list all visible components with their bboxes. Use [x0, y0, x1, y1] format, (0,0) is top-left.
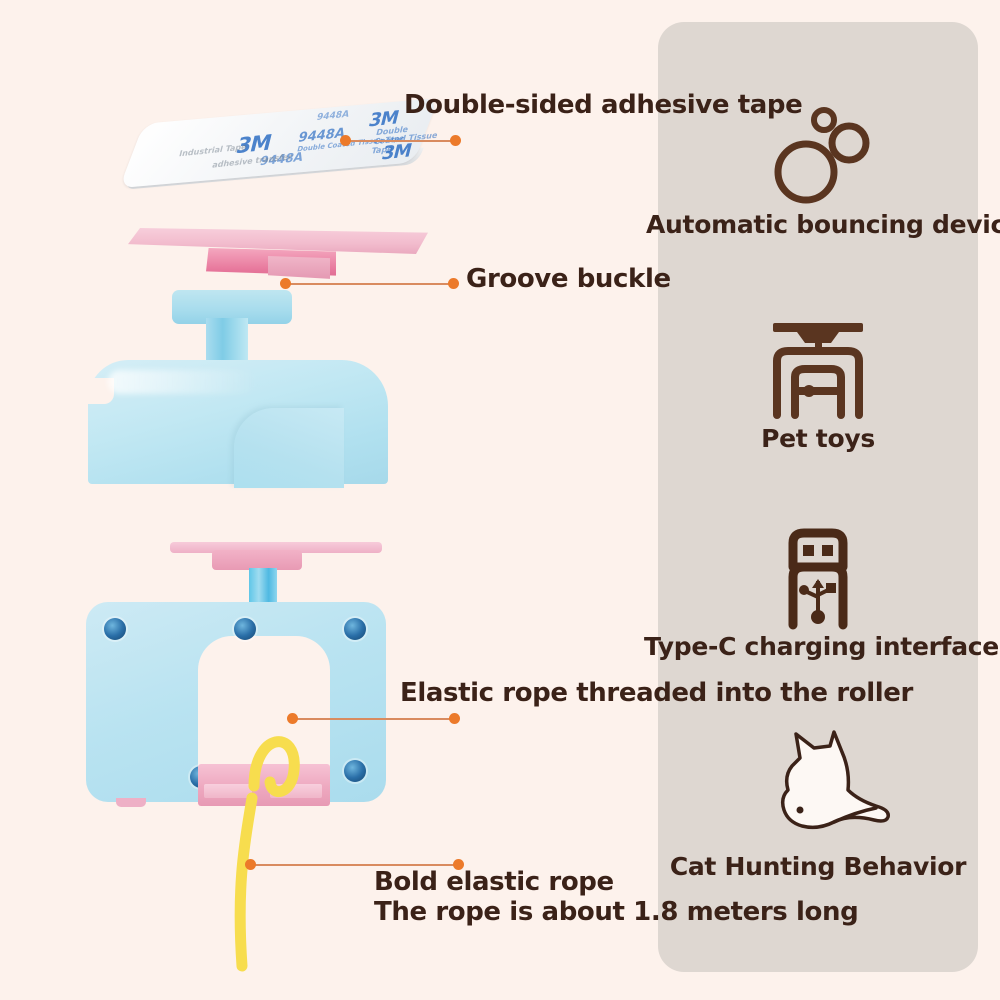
infographic-canvas: Automatic bouncing device Pet toys	[0, 0, 1000, 1000]
leader-dot-groove-buckle-end	[448, 278, 459, 289]
feature-type-c-charging: Type-C charging interface	[658, 522, 978, 661]
leader-dot-adhesive-tape-start	[340, 135, 351, 146]
pet-toy-device-icon	[658, 314, 978, 424]
feature-automatic-bouncing-device: Automatic bouncing device	[658, 100, 978, 239]
leader-dot-bold-elastic-rope-start	[245, 859, 256, 870]
feature-cat-hunting-behavior: Cat Hunting Behavior	[658, 722, 978, 881]
leader-dot-elastic-rope-roller-end	[449, 713, 460, 724]
callout-elastic-rope-roller: Elastic rope threaded into the roller	[400, 679, 913, 708]
device-body-highlight	[108, 370, 258, 394]
device-body-fold	[234, 408, 344, 488]
leader-line-adhesive-tape	[345, 140, 457, 142]
device-body-image	[88, 352, 388, 484]
callout-rope-length: The rope is about 1.8 meters long	[374, 898, 858, 927]
feature-label-type-c-charging: Type-C charging interface	[644, 632, 992, 661]
feature-label-pet-toys: Pet toys	[658, 424, 978, 453]
feature-label-cat-hunting-behavior: Cat Hunting Behavior	[658, 852, 978, 881]
leader-line-bold-elastic-rope	[250, 864, 458, 866]
leader-line-groove-buckle	[285, 283, 453, 285]
leader-dot-groove-buckle-start	[280, 278, 291, 289]
usb-connector-icon	[658, 522, 978, 632]
adhesive-tape-product-image: 3M 9448A Double Coated Tissue Tape 3M Do…	[116, 94, 443, 217]
device-bottom-view-image	[86, 536, 416, 966]
pink-groove-tab	[268, 256, 330, 282]
leader-dot-elastic-rope-roller-start	[287, 713, 298, 724]
callout-adhesive-tape: Double-sided adhesive tape	[404, 91, 802, 120]
leader-line-elastic-rope-roller	[292, 718, 454, 720]
callout-bold-elastic-rope: Bold elastic rope	[374, 868, 614, 897]
leader-dot-adhesive-tape-end	[450, 135, 461, 146]
feature-panel: Automatic bouncing device Pet toys	[658, 22, 978, 972]
feature-label-automatic-bouncing-device: Automatic bouncing device	[646, 210, 990, 239]
callout-groove-buckle: Groove buckle	[466, 265, 671, 294]
sitting-cat-icon	[658, 722, 978, 852]
feature-pet-toys: Pet toys	[658, 314, 978, 453]
elastic-rope-graphic	[86, 536, 416, 966]
